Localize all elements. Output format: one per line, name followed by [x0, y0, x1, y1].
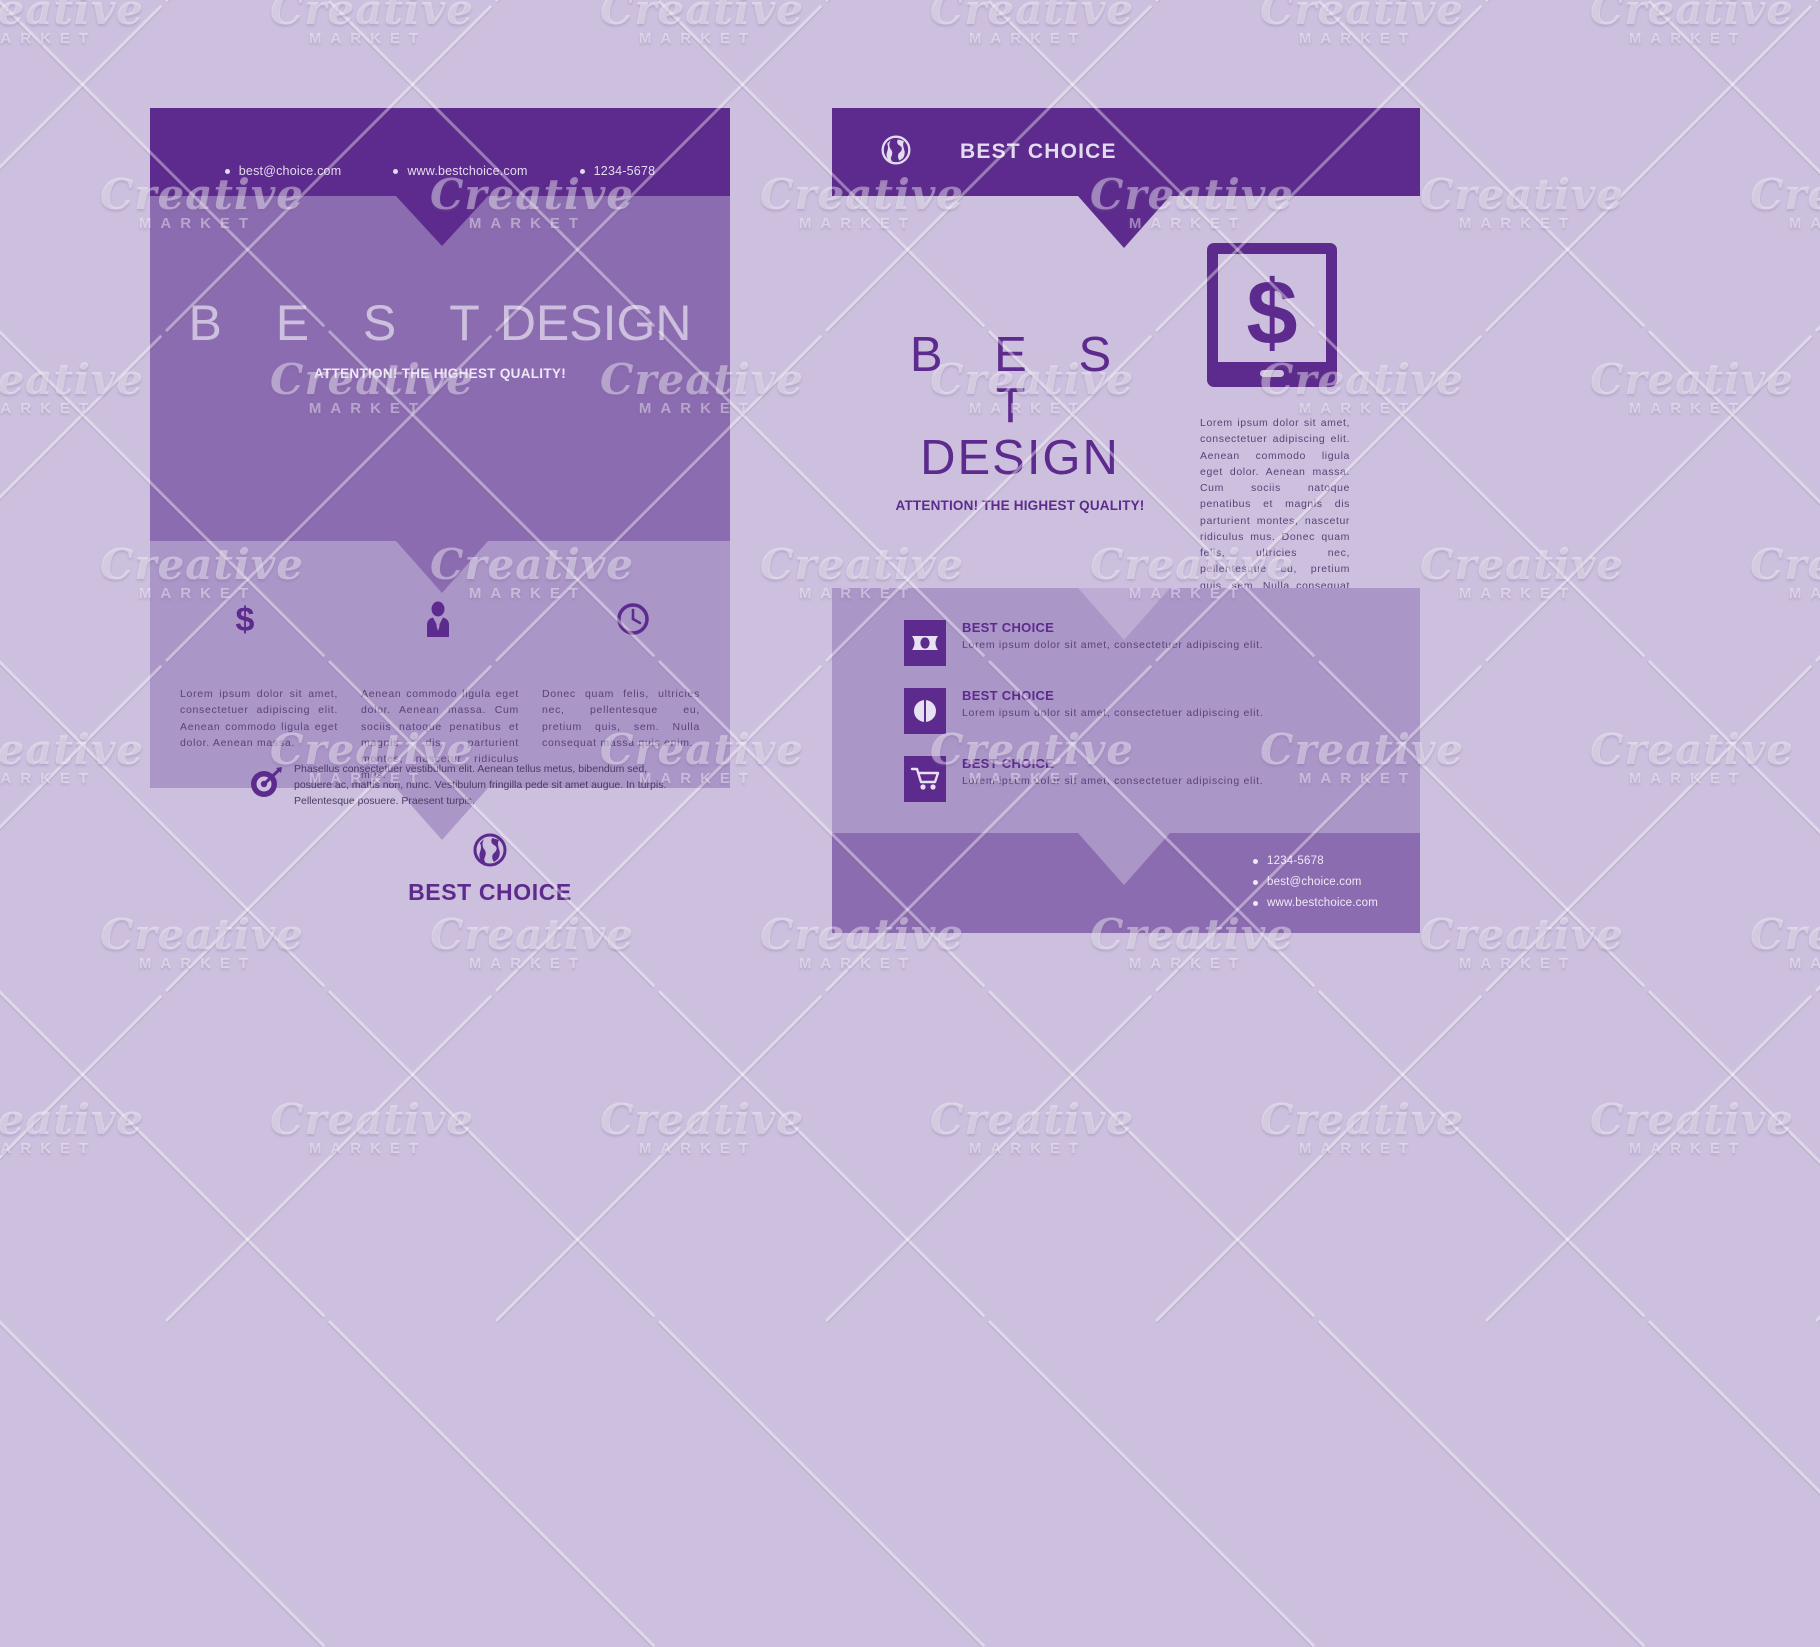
watermark-diagonal-line: [1485, 0, 1812, 2]
banknote-icon: [904, 620, 946, 666]
watermark-diagonal-line: [1648, 990, 1820, 1317]
feature-row-2: BEST CHOICE Lorem ipsum dolor sit amet, …: [904, 688, 1304, 734]
target-arrow-icon: [248, 764, 284, 805]
watermark-creative-market: CreativeMARKET: [1260, 1100, 1450, 1157]
feature-body-3: Lorem ipsum dolor sit amet, consectetuer…: [962, 774, 1263, 790]
watermark-diagonal-line: [1485, 995, 1812, 1322]
left-flyer-logo-name: BEST CHOICE: [360, 879, 620, 906]
watermark-diagonal-line: [0, 5, 162, 332]
footer-phone-text: 1234-5678: [1267, 855, 1324, 867]
watermark-diagonal-line: [1318, 990, 1645, 1317]
right-footer-notch-shape: [1078, 833, 1170, 885]
watermark-diagonal-line: [0, 665, 162, 992]
right-title-best: B E S T: [890, 330, 1150, 433]
watermark-diagonal-line: [1318, 1320, 1645, 1647]
watermark-diagonal-line: [1815, 5, 1820, 332]
watermark-creative-market: CreativeMARKET: [270, 0, 460, 47]
title-best: B E S T: [188, 295, 499, 351]
left-flyer-note: Phasellus consectetuer vestibulum elit. …: [248, 762, 668, 809]
left-flyer-icon-row: $: [150, 601, 730, 642]
cart-icon: [904, 756, 946, 802]
watermark-diagonal-line: [658, 1320, 985, 1647]
watermark-diagonal-line: [988, 990, 1315, 1317]
watermark-diagonal-line: [1815, 0, 1820, 2]
contact-item-email[interactable]: best@choice.com: [225, 164, 342, 178]
left-flyer: best@choice.com www.bestchoice.com 1234-…: [150, 108, 730, 788]
tablet-dollar-icon: $: [1204, 240, 1340, 395]
bullet-dot-icon: [393, 169, 398, 174]
watermark-creative-market: CreativeMARKET: [1750, 545, 1820, 602]
watermark-diagonal-line: [1815, 335, 1820, 662]
feature-row-3: BEST CHOICE Lorem ipsum dolor sit amet, …: [904, 756, 1304, 802]
watermark-creative-market: CreativeMARKET: [600, 0, 790, 47]
mid-notch-shape: [396, 541, 488, 593]
right-features-list: BEST CHOICE Lorem ipsum dolor sit amet, …: [904, 620, 1304, 824]
footer-website-text: www.bestchoice.com: [1267, 897, 1378, 909]
watermark-creative-market: CreativeMARKET: [1420, 175, 1610, 232]
watermark-diagonal-line: [0, 0, 162, 2]
bullet-dot-icon: [1253, 901, 1258, 906]
globe-icon: [880, 134, 912, 171]
watermark-diagonal-line: [1485, 5, 1812, 332]
watermark-diagonal-line: [825, 0, 1152, 2]
contact-website-text: www.bestchoice.com: [407, 164, 527, 178]
bullet-dot-icon: [1253, 880, 1258, 885]
contact-item-phone[interactable]: 1234-5678: [580, 164, 656, 178]
svg-text:$: $: [1246, 262, 1297, 364]
watermark-creative-market: CreativeMARKET: [1590, 0, 1780, 47]
contact-phone-text: 1234-5678: [594, 164, 656, 178]
contact-email-text: best@choice.com: [239, 164, 342, 178]
watermark-diagonal-line: [1648, 330, 1820, 657]
watermark-creative-market: CreativeMARKET: [0, 730, 130, 787]
contact-item-website[interactable]: www.bestchoice.com: [393, 164, 527, 178]
watermark-creative-market: CreativeMARKET: [270, 1100, 460, 1157]
watermark-diagonal-line: [328, 990, 655, 1317]
watermark-creative-market: CreativeMARKET: [930, 1100, 1120, 1157]
dollar-icon: $: [230, 602, 260, 641]
bullet-dot-icon: [1253, 859, 1258, 864]
watermark-creative-market: CreativeMARKET: [1420, 915, 1610, 972]
watermark-diagonal-line: [495, 995, 822, 1322]
feature-body-1: Lorem ipsum dolor sit amet, consectetuer…: [962, 638, 1263, 654]
watermark-diagonal-line: [165, 0, 492, 2]
watermark-creative-market: CreativeMARKET: [0, 1100, 130, 1157]
watermark-diagonal-line: [988, 1320, 1315, 1647]
bullet-dot-icon: [225, 169, 230, 174]
watermark-creative-market: CreativeMARKET: [1420, 545, 1610, 602]
watermark-creative-market: CreativeMARKET: [1590, 730, 1780, 787]
watermark-diagonal-line: [165, 995, 492, 1322]
watermark-diagonal-line: [1648, 660, 1820, 987]
watermark-diagonal-line: [658, 990, 985, 1317]
left-flyer-note-text: Phasellus consectetuer vestibulum elit. …: [294, 762, 668, 809]
footer-contact-website[interactable]: www.bestchoice.com: [1253, 897, 1378, 909]
left-flyer-subtitle: ATTENTION! THE HIGHEST QUALITY!: [150, 366, 730, 381]
watermark-creative-market: CreativeMARKET: [1750, 175, 1820, 232]
right-design-title: B E S T DESIGN ATTENTION! THE HIGHEST QU…: [890, 330, 1150, 513]
left-flyer-contact-list: best@choice.com www.bestchoice.com 1234-…: [150, 108, 730, 196]
watermark-creative-market: CreativeMARKET: [0, 0, 130, 47]
watermark-diagonal-line: [1485, 335, 1812, 662]
watermark-diagonal-line: [1155, 0, 1482, 2]
right-banner-notch-shape: [1078, 196, 1170, 248]
globe-icon: [472, 855, 508, 872]
tablet-body-text: Lorem ipsum dolor sit amet, consectetuer…: [1200, 415, 1350, 610]
clock-icon: [616, 602, 650, 641]
left-flyer-title: B E S TDESIGN: [150, 298, 730, 348]
businessman-icon: [421, 601, 455, 642]
watermark-diagonal-line: [495, 0, 822, 2]
watermark-diagonal-line: [0, 995, 162, 1322]
right-banner-name: BEST CHOICE: [960, 140, 1117, 164]
bullet-dot-icon: [580, 169, 585, 174]
svg-text:$: $: [236, 602, 255, 636]
left-flyer-logo: BEST CHOICE: [360, 832, 620, 906]
watermark-diagonal-line: [1155, 995, 1482, 1322]
watermark-creative-market: CreativeMARKET: [430, 915, 620, 972]
watermark-diagonal-line: [328, 1320, 655, 1647]
watermark-diagonal-line: [0, 990, 325, 1317]
watermark-diagonal-line: [1485, 665, 1812, 992]
feature-title-3: BEST CHOICE: [962, 756, 1263, 771]
footer-contact-email[interactable]: best@choice.com: [1253, 876, 1378, 888]
watermark-creative-market: CreativeMARKET: [1590, 1100, 1780, 1157]
watermark-creative-market: CreativeMARKET: [0, 360, 130, 417]
right-footer-contact-list: 1234-5678 best@choice.com www.bestchoice…: [1253, 855, 1378, 918]
right-panel-notch-shape: [1078, 588, 1170, 640]
watermark-diagonal-line: [1815, 665, 1820, 992]
watermark-creative-market: CreativeMARKET: [1750, 915, 1820, 972]
watermark-creative-market: CreativeMARKET: [930, 0, 1120, 47]
watermark-diagonal-line: [825, 995, 1152, 1322]
coin-icon: [904, 688, 946, 734]
footer-email-text: best@choice.com: [1267, 876, 1362, 888]
title-design: DESIGN: [500, 295, 692, 351]
right-banner: BEST CHOICE: [832, 108, 1420, 196]
watermark-diagonal-line: [1815, 995, 1820, 1322]
watermark-creative-market: CreativeMARKET: [100, 915, 290, 972]
watermark-diagonal-line: [1648, 1320, 1820, 1647]
watermark-creative-market: CreativeMARKET: [1260, 0, 1450, 47]
watermark-creative-market: CreativeMARKET: [600, 1100, 790, 1157]
right-title-design: DESIGN: [890, 433, 1150, 484]
footer-contact-phone[interactable]: 1234-5678: [1253, 855, 1378, 867]
header-notch-shape: [396, 196, 488, 246]
feature-title-2: BEST CHOICE: [962, 688, 1263, 703]
right-design-subtitle: ATTENTION! THE HIGHEST QUALITY!: [890, 498, 1150, 513]
feature-body-2: Lorem ipsum dolor sit amet, consectetuer…: [962, 706, 1263, 722]
watermark-diagonal-line: [1648, 0, 1820, 327]
watermark-diagonal-line: [0, 335, 162, 662]
watermark-diagonal-line: [0, 1320, 325, 1647]
watermark-creative-market: CreativeMARKET: [1590, 360, 1780, 417]
